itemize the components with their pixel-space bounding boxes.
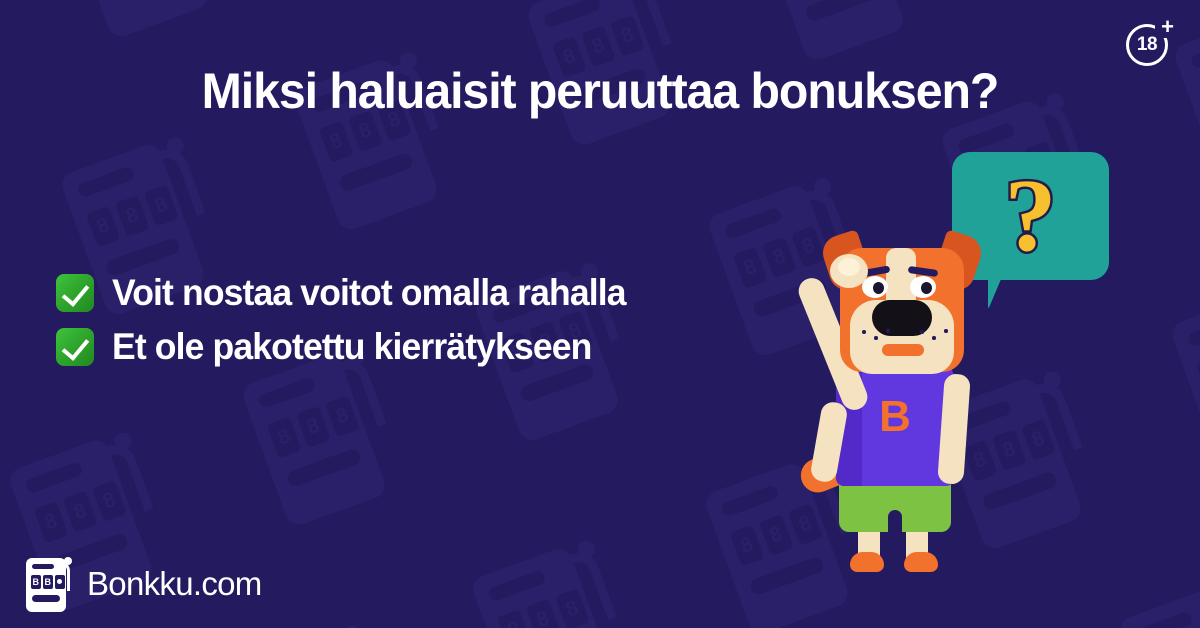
dog-mascot: B <box>778 222 1008 572</box>
brand-name: Bonkku.com <box>87 565 262 603</box>
mascot-pupil-left <box>873 282 884 294</box>
watermark-slot-machine-icon: 888 <box>469 537 641 628</box>
list-item: Voit nostaa voitot omalla rahalla <box>56 272 647 314</box>
logo-reel-1: B <box>31 575 41 589</box>
mascot-mouth <box>882 344 924 356</box>
benefit-list: Voit nostaa voitot omalla rahalla Et ole… <box>56 272 647 368</box>
list-item-label: Voit nostaa voitot omalla rahalla <box>112 272 626 314</box>
watermark-slot-machine-icon: 888 <box>1168 283 1200 468</box>
promo-banner: 888 888 888 888 888 888 888 888 888 888 … <box>0 0 1200 628</box>
mascot-shoe-right <box>904 552 938 572</box>
list-item: Et ole pakotettu kierrätykseen <box>56 326 647 368</box>
mascot-shorts-notch <box>888 510 902 534</box>
watermark-slot-machine-icon: 888 <box>758 0 930 63</box>
slot-machine-icon: B B <box>26 556 74 612</box>
logo-reel-2: B <box>43 575 53 589</box>
check-mark-icon <box>56 328 94 366</box>
check-mark-icon <box>56 274 94 312</box>
mascot-pupil-right <box>921 282 932 294</box>
watermark-slot-machine-icon: 888 <box>239 344 411 529</box>
age-badge-plus-icon: + <box>1161 16 1174 38</box>
watermark-slot-machine-icon: 888 <box>1116 578 1200 628</box>
list-item-label: Et ole pakotettu kierrätykseen <box>112 326 591 368</box>
page-title: Miksi haluaisit peruuttaa bonuksen? <box>21 62 1179 120</box>
watermark-slot-machine-icon: 888 <box>62 0 234 40</box>
mascot-freckles <box>858 328 950 344</box>
mascot-shoe-left <box>850 552 884 572</box>
brand-logo[interactable]: B B Bonkku.com <box>26 556 262 612</box>
mascot-paw-highlight <box>838 258 860 276</box>
watermark-slot-machine-icon: 888 <box>236 622 408 628</box>
